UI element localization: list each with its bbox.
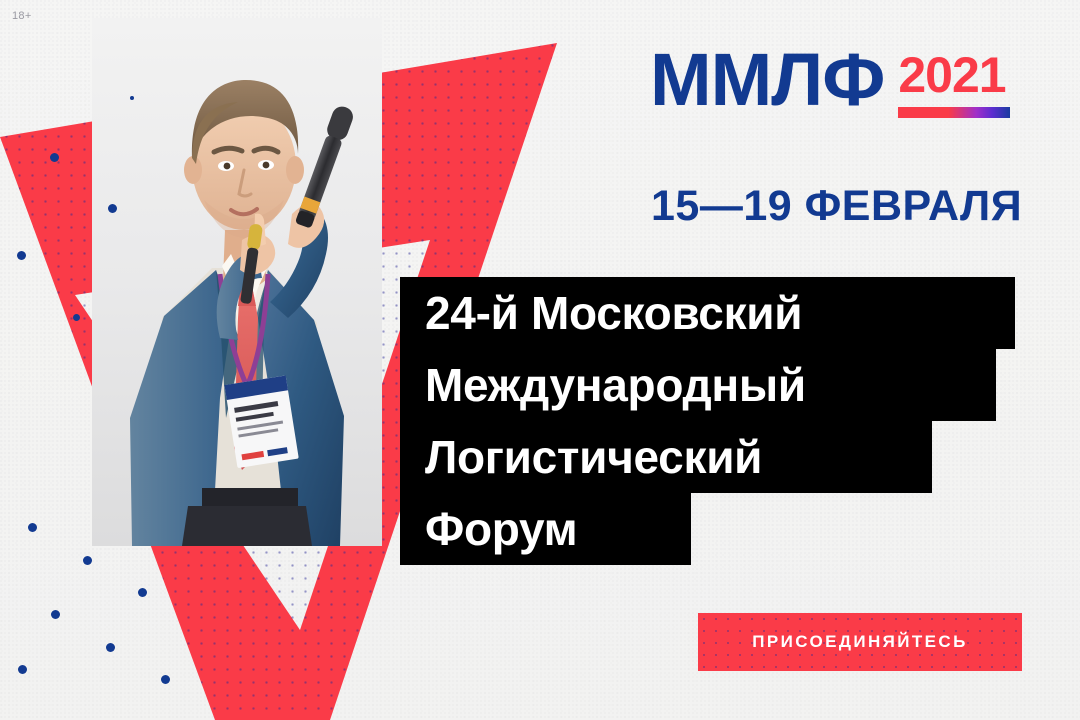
title-line-3: Логистический	[400, 421, 932, 493]
decorative-dot	[18, 665, 27, 674]
logo-abbreviation: ММЛФ	[650, 46, 884, 114]
age-rating-label: 18+	[12, 10, 32, 22]
decorative-dot	[138, 588, 147, 597]
join-button-label: ПРИСОЕДИНЯЙТЕСЬ	[752, 632, 967, 652]
speaker-photo	[92, 18, 382, 546]
logo-year-group: 2021	[898, 50, 1010, 118]
join-button[interactable]: ПРИСОЕДИНЯЙТЕСЬ	[698, 613, 1022, 671]
decorative-dot	[73, 314, 80, 321]
event-dates: 15—19 ФЕВРАЛЯ	[651, 182, 1022, 231]
logo-year: 2021	[898, 50, 1010, 100]
decorative-dot	[50, 153, 59, 162]
event-title: 24-й Московский Международный Логистичес…	[400, 277, 1015, 565]
logo-gradient-bar	[898, 107, 1010, 118]
decorative-dot	[83, 556, 92, 565]
decorative-dot	[28, 523, 37, 532]
title-line-2: Международный	[400, 349, 996, 421]
promo-banner: 18+ ММЛФ 2021 15—19 ФЕВРАЛЯ 24-й Московс…	[0, 0, 1080, 720]
title-line-4: Форум	[400, 493, 691, 565]
event-logo: ММЛФ 2021	[650, 46, 1010, 118]
title-line-1: 24-й Московский	[400, 277, 1015, 349]
decorative-dot	[51, 610, 60, 619]
decorative-dot	[106, 643, 115, 652]
decorative-dot	[161, 675, 170, 684]
decorative-dot	[17, 251, 26, 260]
